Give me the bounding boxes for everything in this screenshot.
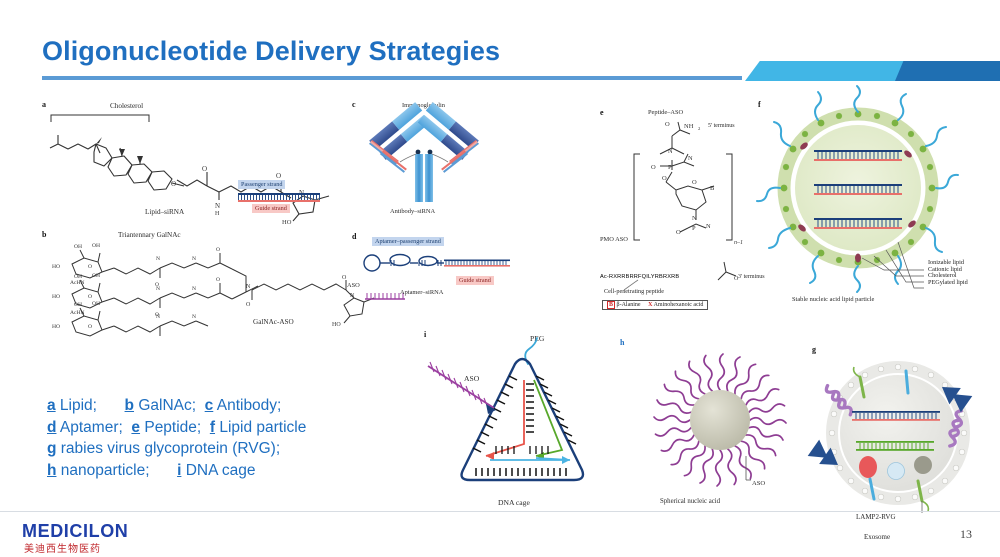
svg-text:N: N xyxy=(688,155,693,162)
page-title: Oligonucleotide Delivery Strategies xyxy=(42,36,500,67)
svg-text:HO: HO xyxy=(332,322,341,328)
panel-b-galnac-label: Triantennary GalNAc xyxy=(118,231,181,239)
legend-b-text: GalNAc; xyxy=(134,397,205,414)
svg-text:P: P xyxy=(668,164,672,171)
panel-e-pmo-label: PMO ASO xyxy=(600,236,628,243)
antibody-structure-icon xyxy=(360,112,500,212)
panel-g-letter: g xyxy=(812,345,816,354)
legend-e-text: Peptide; xyxy=(140,419,210,436)
svg-text:N: N xyxy=(668,148,673,155)
svg-text:P: P xyxy=(692,225,696,232)
svg-text:O: O xyxy=(88,264,92,270)
panel-e-letter: e xyxy=(600,108,604,117)
svg-text:OH: OH xyxy=(92,243,100,249)
svg-text:AcHN: AcHN xyxy=(70,310,85,316)
legend-c-text: Antibody; xyxy=(213,397,281,414)
aptamer-stemloop-icon xyxy=(360,252,515,274)
panel-b-name: GalNAc-ASO xyxy=(253,318,294,326)
panel-a-guide-tag: Guide strand xyxy=(252,204,290,213)
svg-text:HO: HO xyxy=(282,219,292,226)
svg-text:O: O xyxy=(676,229,681,236)
panel-b-galnac: b Triantennary GalNAc xyxy=(40,230,370,330)
panel-d-letter: d xyxy=(352,232,356,241)
key-x-letter: X xyxy=(648,302,652,308)
panel-a-cholesterol-label: Cholesterol xyxy=(110,102,143,110)
panel-b-letter: b xyxy=(42,230,46,239)
svg-text:N: N xyxy=(156,286,160,292)
svg-text:O: O xyxy=(88,324,92,330)
svg-text:B: B xyxy=(710,185,715,192)
key-b-name: β-Alanine xyxy=(617,302,641,308)
panel-a-passenger-tag: Passenger strand xyxy=(238,180,285,189)
svg-text:NH: NH xyxy=(684,123,694,130)
svg-text:N: N xyxy=(215,202,220,210)
panel-f-lipid-particle: f xyxy=(756,100,1000,315)
legend-e-letter: e xyxy=(131,419,140,436)
slide-root: Oligonucleotide Delivery Strategies a Ch… xyxy=(0,0,1000,557)
svg-text:O: O xyxy=(651,164,656,171)
panel-i-dna-cage: i PEG ASO xyxy=(424,330,614,520)
panel-f-legend-list: Ionizable lipid Cationic lipid Cholester… xyxy=(928,260,968,286)
svg-text:N: N xyxy=(692,215,697,222)
svg-text:H: H xyxy=(215,211,220,217)
svg-text:N: N xyxy=(192,314,196,320)
svg-text:N: N xyxy=(246,284,251,290)
legend-b-letter: b xyxy=(125,397,134,414)
svg-text:OH: OH xyxy=(92,273,100,279)
spherical-nucleic-acid-icon xyxy=(632,344,812,494)
legend-a-letter: a xyxy=(47,397,56,414)
panel-a-sirna-duplex xyxy=(238,193,320,202)
panel-h-nanoparticle: h xyxy=(632,338,817,518)
svg-text:O: O xyxy=(216,277,220,283)
panel-d-passenger-tag: Aptamer–passenger strand xyxy=(372,237,444,246)
legend-pegylated-lipid: PEGylated lipid xyxy=(928,280,968,287)
panel-i-name: DNA cage xyxy=(498,498,530,507)
svg-text:OH: OH xyxy=(74,274,82,280)
key-x-name: Aminohexanoic acid xyxy=(654,302,704,308)
svg-text:N: N xyxy=(192,256,196,262)
svg-text:O: O xyxy=(171,180,176,188)
panel-g-protein-label: LAMP2-RVG xyxy=(856,513,896,521)
svg-text:AcHN: AcHN xyxy=(70,280,85,286)
panel-c-letter: c xyxy=(352,100,356,109)
legend-g-text: rabies virus glycoprotein (RVG); xyxy=(56,440,280,457)
panel-c-antibody: c Immunoglobulin xyxy=(352,100,502,225)
figure-legend: a Lipid; b GalNAc; c Antibody; d Aptamer… xyxy=(47,395,306,481)
svg-text:HO: HO xyxy=(52,264,60,270)
exosome-icon xyxy=(802,355,992,515)
svg-text:N: N xyxy=(156,314,160,320)
panel-e-title: Peptide–ASO xyxy=(648,109,683,116)
svg-text:O: O xyxy=(665,121,670,128)
svg-text:O: O xyxy=(662,175,667,182)
medicilon-logo-en: MEDICILON xyxy=(22,521,128,542)
dna-cage-icon xyxy=(424,338,614,508)
legend-f-text: Lipid particle xyxy=(215,419,306,436)
panel-f-name: Stable nucleic acid lipid particle xyxy=(792,296,874,303)
panel-g-exosome: g xyxy=(802,345,992,545)
svg-text:HO: HO xyxy=(52,324,60,330)
legend-h-text: nanoparticle; xyxy=(56,462,177,479)
panel-a-lipid: a Cholesterol xyxy=(40,100,350,225)
svg-text:O: O xyxy=(692,179,697,186)
panel-h-aso-label: ASO xyxy=(752,480,765,487)
svg-text:HO: HO xyxy=(52,294,60,300)
legend-c-letter: c xyxy=(205,397,214,414)
legend-i-text: DNA cage xyxy=(181,462,255,479)
svg-text:N: N xyxy=(192,286,196,292)
key-b-letter: B xyxy=(607,301,615,309)
panel-d-aptamer: d Aptamer–passenger strand xyxy=(352,232,517,302)
panel-h-name: Spherical nucleic acid xyxy=(660,498,720,505)
svg-text:O: O xyxy=(202,165,207,173)
svg-text:O: O xyxy=(246,302,251,308)
panel-c-name: Antibody–siRNA xyxy=(390,208,435,215)
peptide-carbonyl-link-icon: O xyxy=(708,258,760,284)
panel-e-peptide: e Peptide–ASO 5' terminus xyxy=(600,108,765,313)
svg-text:OH: OH xyxy=(74,302,82,308)
panel-h-letter: h xyxy=(620,338,624,347)
panel-g-name: Exosome xyxy=(864,533,890,541)
svg-text:n–1: n–1 xyxy=(734,240,743,246)
footer-divider xyxy=(0,511,1000,512)
svg-text:OH: OH xyxy=(74,244,82,250)
medicilon-logo-cn: 美迪西生物医药 xyxy=(24,540,101,555)
legend-a-text: Lipid; xyxy=(56,397,125,414)
svg-text:N: N xyxy=(156,256,160,262)
header-accent-dark xyxy=(895,61,1000,81)
svg-text:O: O xyxy=(216,247,220,253)
panel-d-guide-tag: Guide strand xyxy=(456,276,494,285)
title-underline-rule xyxy=(42,76,742,80)
panel-a-name: Lipid–siRNA xyxy=(145,208,184,216)
panel-e-cpp-label: Cell-penetrating peptide xyxy=(604,288,664,295)
svg-text:O: O xyxy=(276,172,281,180)
svg-text:2: 2 xyxy=(698,126,701,131)
svg-text:O: O xyxy=(88,294,92,300)
svg-text:N: N xyxy=(706,223,711,230)
panel-e-key-box: B β-Alanine X Aminohexanoic acid xyxy=(602,300,708,310)
svg-text:OH: OH xyxy=(92,301,100,307)
svg-text:O: O xyxy=(342,275,347,281)
page-number: 13 xyxy=(960,527,972,542)
panel-a-letter: a xyxy=(42,100,46,109)
panel-d-name: Aptamer–siRNA xyxy=(400,289,443,296)
legend-d-text: Aptamer; xyxy=(56,419,131,436)
